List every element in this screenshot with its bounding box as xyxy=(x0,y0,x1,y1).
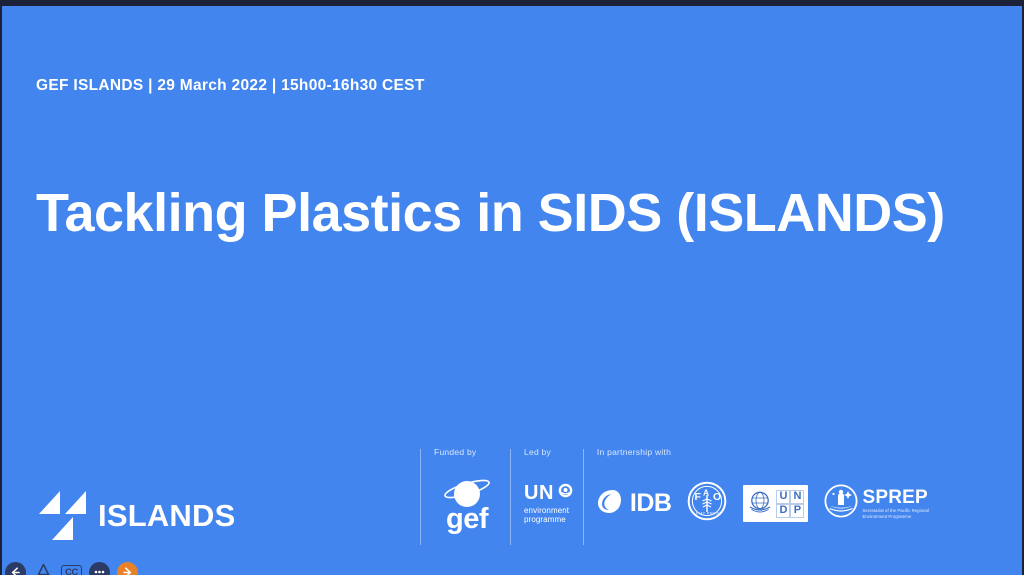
islands-wordmark: ISLANDS xyxy=(98,500,235,531)
sprep-tagline: Secretariat of the Pacific Regional Envi… xyxy=(862,508,928,519)
pen-tip-icon xyxy=(36,563,51,575)
un-emblem-icon xyxy=(558,483,573,503)
arrow-left-icon xyxy=(9,566,22,575)
sprep-tagline-line-2: Environment Programme xyxy=(862,514,911,519)
undp-logo: U N D P xyxy=(743,485,808,522)
sprep-wordmark: SPREP xyxy=(862,488,928,507)
slide-eyebrow-text: GEF ISLANDS | 29 March 2022 | 15h00-16h3… xyxy=(36,77,425,95)
ellipsis-icon xyxy=(92,566,107,575)
undp-letter: P xyxy=(790,504,804,518)
un-globe-icon xyxy=(747,488,773,519)
partner-group-caption: Funded by xyxy=(434,447,500,457)
sprep-tagline-line-1: Secretariat of the Pacific Regional xyxy=(862,508,928,513)
more-button[interactable] xyxy=(89,562,110,575)
arrow-right-icon xyxy=(121,566,134,575)
gef-wordmark: gef xyxy=(446,507,488,532)
unep-logo: UN environment xyxy=(524,483,573,525)
unep-line-1: environment xyxy=(524,506,569,515)
undp-letter: D xyxy=(776,504,790,518)
captions-button[interactable]: CC xyxy=(61,565,82,575)
gef-logo: gef xyxy=(434,476,500,532)
partner-group-funded-by: Funded by gef xyxy=(420,446,510,546)
svg-text:F: F xyxy=(695,491,702,503)
unep-subtitle: environment programme xyxy=(524,506,569,525)
islands-triangles-icon xyxy=(36,489,98,541)
partner-group-in-partnership-with: In partnership with IDB xyxy=(583,446,939,546)
undp-letter: U xyxy=(776,490,790,504)
player-toolbar[interactable]: CC xyxy=(2,562,138,575)
fao-logo: F O A FIAT PANIS xyxy=(687,481,727,526)
idb-leaf-icon xyxy=(597,487,627,520)
islands-brand-logo: ISLANDS xyxy=(36,489,235,541)
partner-logo-strip: Funded by gef xyxy=(420,446,939,546)
annotate-button[interactable] xyxy=(33,562,54,575)
svg-text:O: O xyxy=(713,491,721,503)
unep-line-2: programme xyxy=(524,515,566,524)
sprep-emblem-icon xyxy=(824,484,858,523)
presentation-slide: GEF ISLANDS | 29 March 2022 | 15h00-16h3… xyxy=(2,6,1022,575)
back-button[interactable] xyxy=(5,562,26,575)
svg-text:A: A xyxy=(703,488,709,498)
undp-letter: N xyxy=(790,490,804,504)
fao-motto: FIAT PANIS xyxy=(696,512,720,516)
idb-logo: IDB xyxy=(597,487,672,520)
next-button[interactable] xyxy=(117,562,138,575)
sprep-logo: SPREP Secretariat of the Pacific Regiona… xyxy=(824,484,928,523)
idb-wordmark: IDB xyxy=(630,491,672,516)
un-wordmark: UN xyxy=(524,483,554,503)
undp-letter-grid: U N D P xyxy=(776,490,804,518)
partner-group-caption: In partnership with xyxy=(597,447,929,457)
partner-group-caption: Led by xyxy=(524,447,573,457)
app-window: GEF ISLANDS | 29 March 2022 | 15h00-16h3… xyxy=(0,0,1024,575)
partner-group-led-by: Led by UN xyxy=(510,446,583,546)
page-title: Tackling Plastics in SIDS (ISLANDS) xyxy=(36,182,945,244)
